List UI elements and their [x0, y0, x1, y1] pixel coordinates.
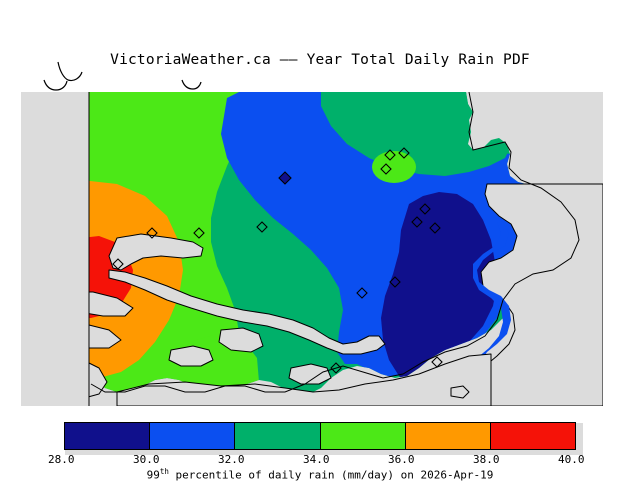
colorbar-segment-28-30 [65, 423, 150, 449]
colorbar-segment-38-40 [491, 423, 575, 449]
colorbar-segment-32-34 [235, 423, 320, 449]
rain-contour-map[interactable] [21, 92, 603, 406]
colorbar-caption: 99th percentile of daily rain (mm/day) o… [40, 467, 600, 482]
caption-ordinal-suffix: th [160, 467, 169, 476]
weather-map-page: VictoriaWeather.ca —— Year Total Daily R… [0, 0, 640, 480]
colorbar-tick-34: 34.0 [303, 453, 330, 466]
colorbar-segment-30-32 [150, 423, 235, 449]
page-title: VictoriaWeather.ca —— Year Total Daily R… [0, 52, 640, 68]
colorbar-tick-labels: 28.0 30.0 32.0 34.0 36.0 38.0 40.0 [40, 453, 600, 467]
colorbar-tick-32: 32.0 [218, 453, 245, 466]
colorbar-segment-36-38 [406, 423, 491, 449]
colorbar-tick-36: 36.0 [388, 453, 415, 466]
colorbar-tick-30: 30.0 [133, 453, 160, 466]
colorbar-segment-34-36 [321, 423, 406, 449]
colorbar-tick-40: 40.0 [558, 453, 585, 466]
colorbar-tick-38: 38.0 [473, 453, 500, 466]
colorbar-tick-28: 28.0 [48, 453, 75, 466]
colorbar-scale[interactable] [64, 422, 576, 450]
land-northwest-sliver [21, 92, 89, 406]
map-canvas [21, 92, 603, 406]
land-inlet-b [169, 346, 213, 366]
colorbar: 28.0 30.0 32.0 34.0 36.0 38.0 40.0 99th … [40, 415, 600, 477]
